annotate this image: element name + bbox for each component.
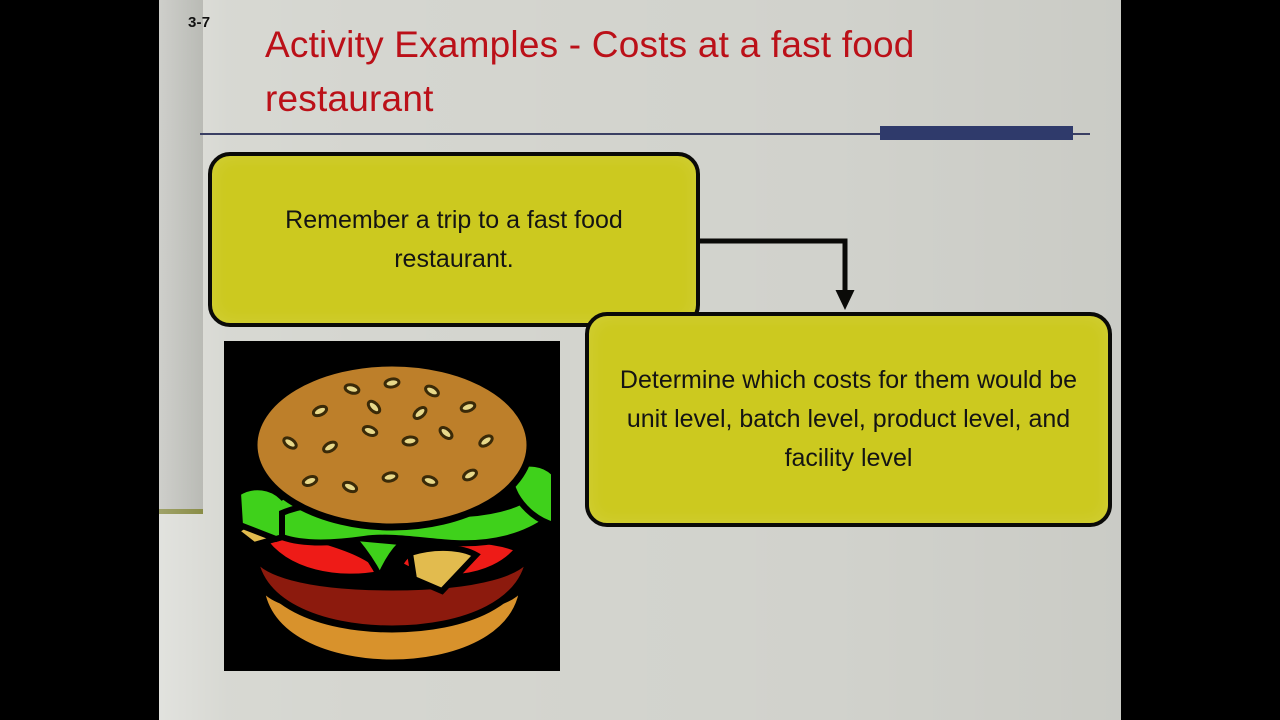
page-title: Activity Examples - Costs at a fast food… (265, 18, 1085, 126)
callout-box-remember: Remember a trip to a fast food restauran… (208, 152, 700, 327)
slide-viewer: 3-7 Activity Examples - Costs at a fast … (0, 0, 1280, 720)
callout-box-determine: Determine which costs for them would be … (585, 312, 1112, 527)
title-accent-tab (880, 126, 1073, 140)
slide-canvas: 3-7 Activity Examples - Costs at a fast … (159, 0, 1121, 720)
callout-text: Remember a trip to a fast food restauran… (212, 201, 696, 279)
elbow-arrow-icon (695, 236, 865, 314)
letterbox-bar-right (1121, 0, 1280, 720)
slide-number: 3-7 (188, 14, 210, 31)
left-decorative-band (159, 0, 203, 512)
callout-text: Determine which costs for them would be … (589, 361, 1108, 478)
hamburger-clipart-icon (224, 341, 560, 671)
letterbox-bar-left (0, 0, 159, 720)
left-band-foot (159, 509, 203, 514)
